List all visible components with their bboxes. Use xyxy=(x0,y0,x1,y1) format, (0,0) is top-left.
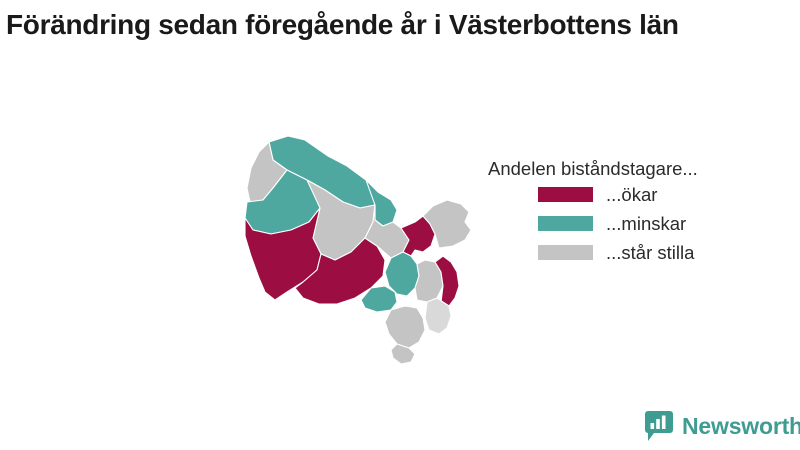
legend-item-decrease[interactable]: ...minskar xyxy=(538,209,778,238)
legend-label-decrease: ...minskar xyxy=(606,213,686,235)
newsworthy-logo[interactable]: Newsworthy xyxy=(645,411,800,441)
legend-swatch-unchanged xyxy=(538,245,593,260)
legend-item-unchanged[interactable]: ...står stilla xyxy=(538,238,778,267)
legend-swatch-decrease xyxy=(538,216,593,231)
map-svg xyxy=(225,130,495,370)
legend-label-unchanged: ...står stilla xyxy=(606,242,694,264)
legend-swatch-increase xyxy=(538,187,593,202)
legend-title: Andelen biståndstagare... xyxy=(488,158,778,180)
logo-wordmark: Newsworthy xyxy=(682,415,800,438)
legend-item-increase[interactable]: ...ökar xyxy=(538,180,778,209)
map-area-coast-south-tip[interactable] xyxy=(385,306,425,348)
bar-chart-speech-bubble-icon xyxy=(645,411,673,441)
legend: Andelen biståndstagare... ...ökar ...min… xyxy=(488,158,778,267)
page-title: Förändring sedan föregående år i Västerb… xyxy=(6,8,766,42)
choropleth-map xyxy=(225,130,495,370)
legend-label-increase: ...ökar xyxy=(606,184,657,206)
